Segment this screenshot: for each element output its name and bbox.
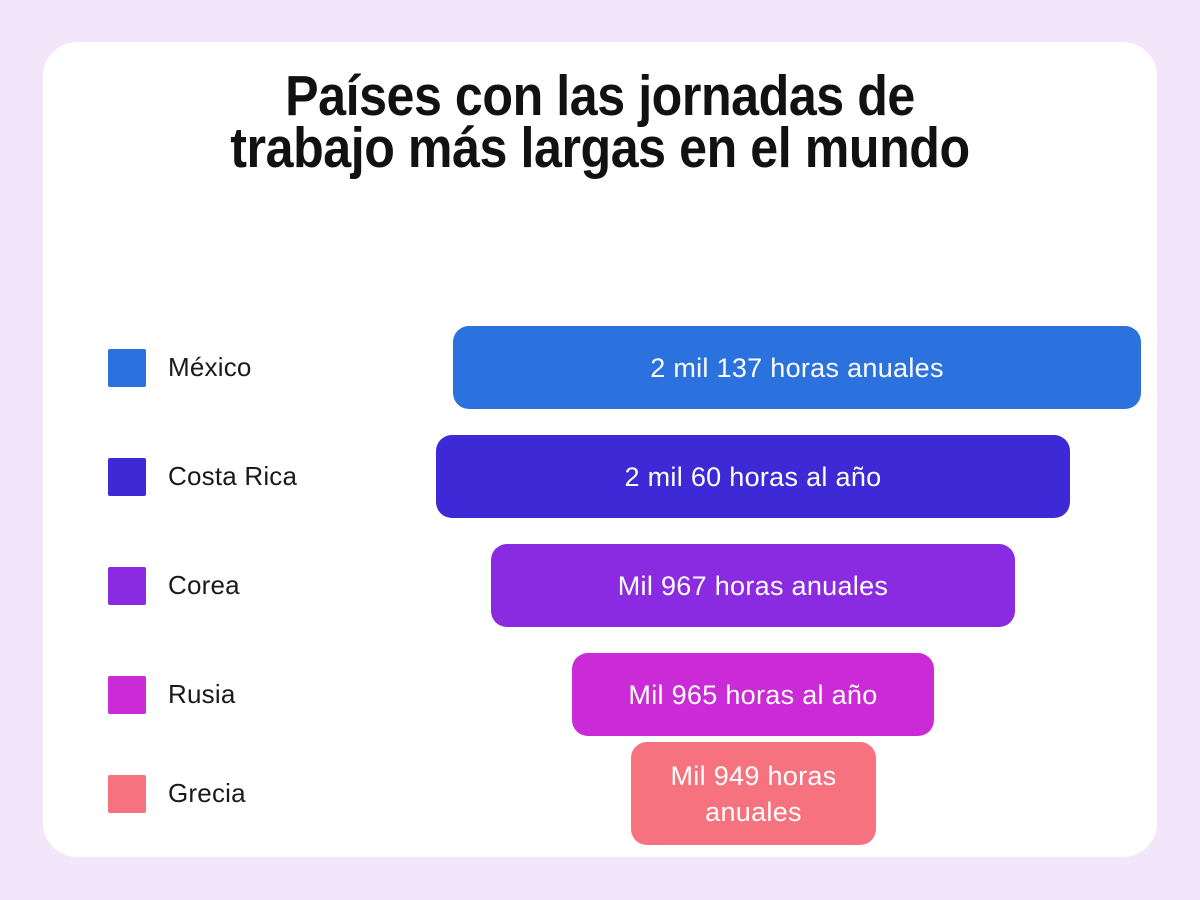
legend-label-corea: Corea xyxy=(168,570,240,601)
bar-rusia: Mil 965 horas al año xyxy=(572,653,934,736)
legend-label-mexico: México xyxy=(168,352,252,383)
legend-item-mexico: México xyxy=(108,349,252,387)
legend-swatch-corea xyxy=(108,567,146,605)
legend-label-grecia: Grecia xyxy=(168,778,246,809)
legend-swatch-grecia xyxy=(108,775,146,813)
bar-costa-rica: 2 mil 60 horas al año xyxy=(436,435,1070,518)
content-card: Países con las jornadas de trabajo más l… xyxy=(43,42,1157,857)
bar-chart: México 2 mil 137 horas anuales Costa Ric… xyxy=(43,280,1157,840)
legend-item-corea: Corea xyxy=(108,567,240,605)
page-title: Países con las jornadas de trabajo más l… xyxy=(110,70,1090,174)
legend-item-grecia: Grecia xyxy=(108,775,246,813)
legend-swatch-mexico xyxy=(108,349,146,387)
legend-label-rusia: Rusia xyxy=(168,679,235,710)
bar-corea: Mil 967 horas anuales xyxy=(491,544,1015,627)
legend-item-rusia: Rusia xyxy=(108,676,235,714)
bar-grecia: Mil 949 horas anuales xyxy=(631,742,876,845)
legend-item-costa-rica: Costa Rica xyxy=(108,458,297,496)
legend-swatch-rusia xyxy=(108,676,146,714)
legend-label-costa-rica: Costa Rica xyxy=(168,461,297,492)
bar-mexico: 2 mil 137 horas anuales xyxy=(453,326,1141,409)
infographic-canvas: Países con las jornadas de trabajo más l… xyxy=(0,0,1200,900)
legend-swatch-costa-rica xyxy=(108,458,146,496)
